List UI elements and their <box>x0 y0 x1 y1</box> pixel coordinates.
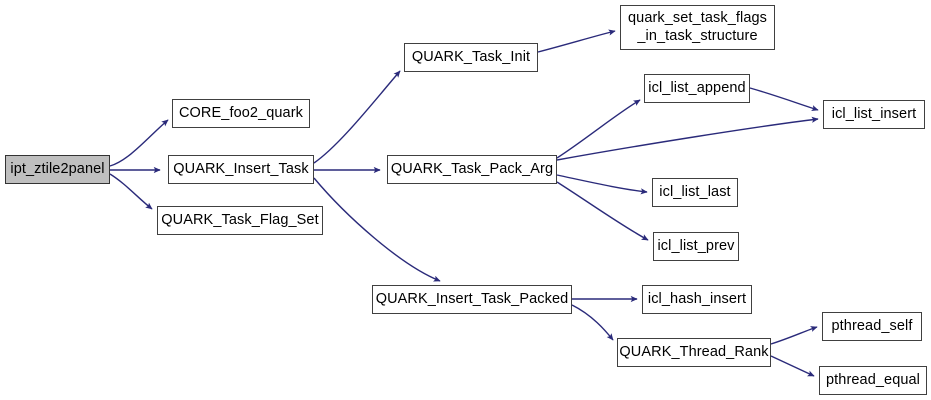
call-edge-QUARK_Thread_Rank-to-pthread_self <box>771 327 817 344</box>
call-edge-ipt_ztile2panel-to-QUARK_Task_Flag_Set <box>110 174 152 209</box>
call-edge-QUARK_Task_Init-to-quark_set_task_flags_in_task_structure <box>538 31 615 52</box>
graph-node-QUARK_Task_Pack_Arg[interactable]: QUARK_Task_Pack_Arg <box>387 155 557 184</box>
call-edge-QUARK_Task_Pack_Arg-to-icl_list_append <box>557 100 640 158</box>
graph-node-QUARK_Insert_Task_Packed[interactable]: QUARK_Insert_Task_Packed <box>372 285 572 314</box>
call-edge-QUARK_Insert_Task-to-QUARK_Insert_Task_Packed <box>314 178 440 281</box>
graph-node-icl_list_prev[interactable]: icl_list_prev <box>653 232 739 261</box>
call-edge-QUARK_Task_Pack_Arg-to-icl_list_last <box>557 175 647 192</box>
graph-node-QUARK_Task_Flag_Set[interactable]: QUARK_Task_Flag_Set <box>157 206 323 235</box>
call-edge-QUARK_Insert_Task-to-QUARK_Task_Init <box>314 71 400 163</box>
call-graph-canvas: ipt_ztile2panelCORE_foo2_quarkQUARK_Inse… <box>0 0 931 400</box>
call-edge-ipt_ztile2panel-to-CORE_foo2_quark <box>110 120 168 166</box>
graph-node-icl_list_insert[interactable]: icl_list_insert <box>823 100 925 129</box>
graph-node-pthread_self[interactable]: pthread_self <box>822 312 922 341</box>
call-edge-icl_list_append-to-icl_list_insert <box>750 88 818 110</box>
call-edge-QUARK_Insert_Task_Packed-to-QUARK_Thread_Rank <box>572 305 613 340</box>
graph-node-CORE_foo2_quark[interactable]: CORE_foo2_quark <box>172 99 310 128</box>
graph-node-QUARK_Thread_Rank[interactable]: QUARK_Thread_Rank <box>617 338 771 367</box>
call-edge-QUARK_Task_Pack_Arg-to-icl_list_prev <box>557 182 648 240</box>
call-edge-QUARK_Thread_Rank-to-pthread_equal <box>771 356 814 376</box>
graph-node-icl_hash_insert[interactable]: icl_hash_insert <box>642 285 752 314</box>
graph-node-ipt_ztile2panel[interactable]: ipt_ztile2panel <box>5 155 110 184</box>
graph-node-icl_list_append[interactable]: icl_list_append <box>644 74 750 103</box>
graph-node-pthread_equal[interactable]: pthread_equal <box>819 366 927 395</box>
graph-node-QUARK_Insert_Task[interactable]: QUARK_Insert_Task <box>168 155 314 184</box>
graph-node-icl_list_last[interactable]: icl_list_last <box>652 178 738 207</box>
graph-node-QUARK_Task_Init[interactable]: QUARK_Task_Init <box>404 43 538 72</box>
call-edge-QUARK_Task_Pack_Arg-to-icl_list_insert <box>557 119 818 160</box>
graph-node-quark_set_task_flags_in_task_structure[interactable]: quark_set_task_flags _in_task_structure <box>620 5 775 50</box>
